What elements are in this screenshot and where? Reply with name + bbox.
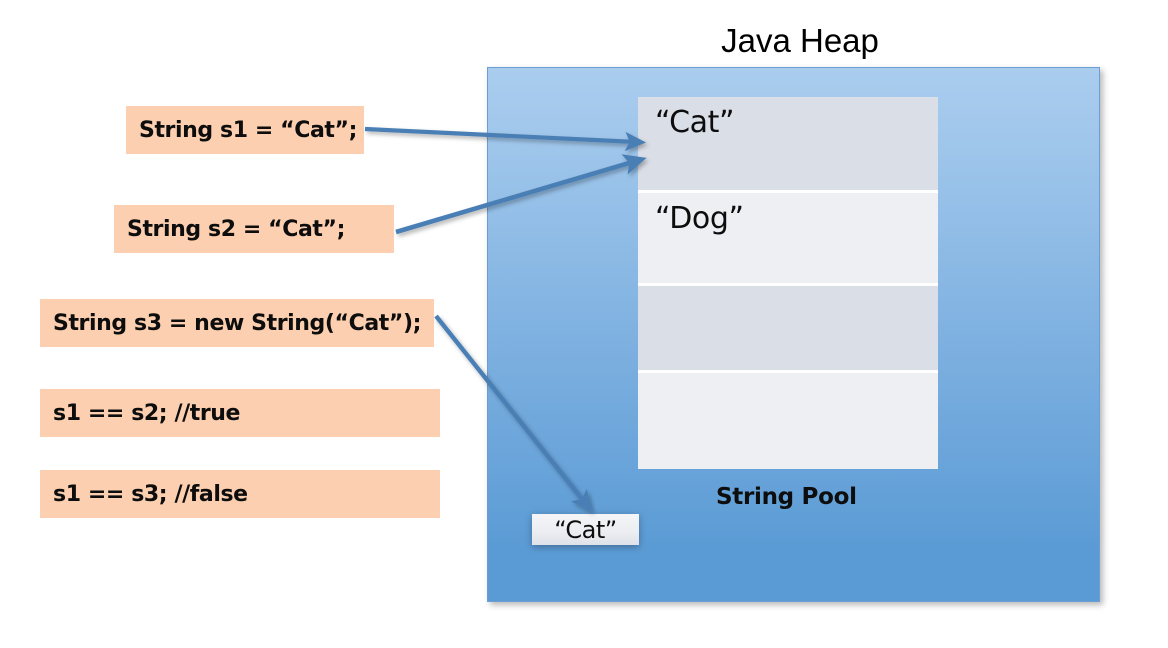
java-heap-container: “Cat” “Dog” String Pool “Cat”: [487, 67, 1100, 602]
pool-row-empty-1: [638, 286, 938, 373]
code-label-s1: String s1 = “Cat”;: [126, 106, 364, 154]
string-pool-caption: String Pool: [716, 484, 857, 510]
heap-object-cat: “Cat”: [532, 514, 639, 545]
string-pool-table: “Cat” “Dog”: [638, 97, 938, 469]
code-label-s1-eq-s3: s1 == s3; //false: [40, 470, 440, 518]
pool-row-empty-2: [638, 373, 938, 469]
code-label-s1-eq-s2: s1 == s2; //true: [40, 389, 440, 437]
code-label-s2: String s2 = “Cat”;: [114, 205, 394, 253]
code-label-s3: String s3 = new String(“Cat”);: [40, 299, 434, 347]
pool-row-value: “Dog”: [655, 193, 744, 234]
page-title: Java Heap: [600, 22, 1000, 60]
diagram-canvas: Java Heap “Cat” “Dog” String Pool “Cat” …: [0, 0, 1168, 648]
pool-row-value: “Cat”: [655, 97, 734, 138]
pool-row-cat: “Cat”: [638, 97, 938, 193]
pool-row-dog: “Dog”: [638, 193, 938, 286]
